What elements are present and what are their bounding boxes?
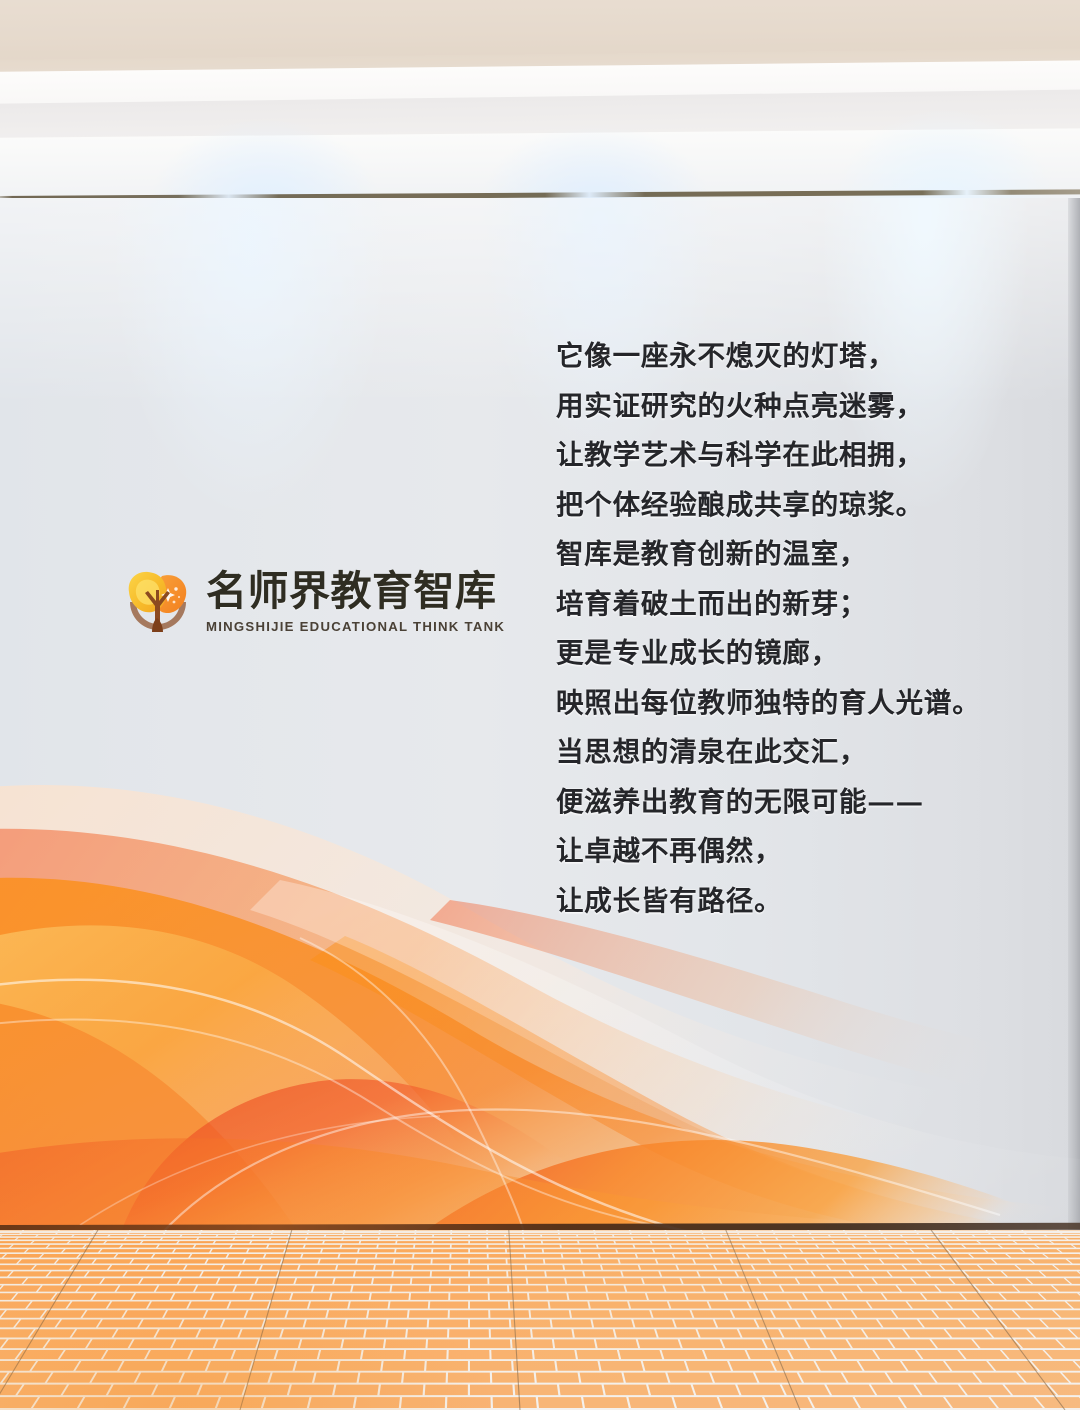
poem-line: 让教学艺术与科学在此相拥， <box>556 431 1026 481</box>
poem-line: 把个体经验酿成共享的琼浆。 <box>556 481 1026 531</box>
wall-display-scene: 名师界教育智库 MINGSHIJIE EDUCATIONAL THINK TAN… <box>0 0 1080 1410</box>
logo-chinese-name: 名师界教育智库 <box>206 570 505 613</box>
tiled-floor <box>0 1230 1080 1410</box>
poem-line: 让成长皆有路径。 <box>556 877 1026 927</box>
poem-line: 让卓越不再偶然， <box>556 827 1026 877</box>
poem-line: 智库是教育创新的温室， <box>556 530 1026 580</box>
poem-line: 它像一座永不熄灭的灯塔， <box>556 332 1026 382</box>
poem-line: 更是专业成长的镜廊， <box>556 629 1026 679</box>
poem-line: 当思想的清泉在此交汇， <box>556 728 1026 778</box>
tree-logo-icon <box>118 562 198 642</box>
poem-line: 映照出每位教师独特的育人光谱。 <box>556 679 1026 729</box>
logo-wordmark: 名师界教育智库 MINGSHIJIE EDUCATIONAL THINK TAN… <box>206 570 505 633</box>
brand-logo: 名师界教育智库 MINGSHIJIE EDUCATIONAL THINK TAN… <box>118 556 478 648</box>
poem-line: 便滋养出教育的无限可能—— <box>556 778 1026 828</box>
wall-poem: 它像一座永不熄灭的灯塔， 用实证研究的火种点亮迷雾， 让教学艺术与科学在此相拥，… <box>556 332 1026 926</box>
poem-line: 培育着破土而出的新芽； <box>556 580 1026 630</box>
poem-line: 用实证研究的火种点亮迷雾， <box>556 382 1026 432</box>
logo-english-name: MINGSHIJIE EDUCATIONAL THINK TANK <box>206 619 505 634</box>
